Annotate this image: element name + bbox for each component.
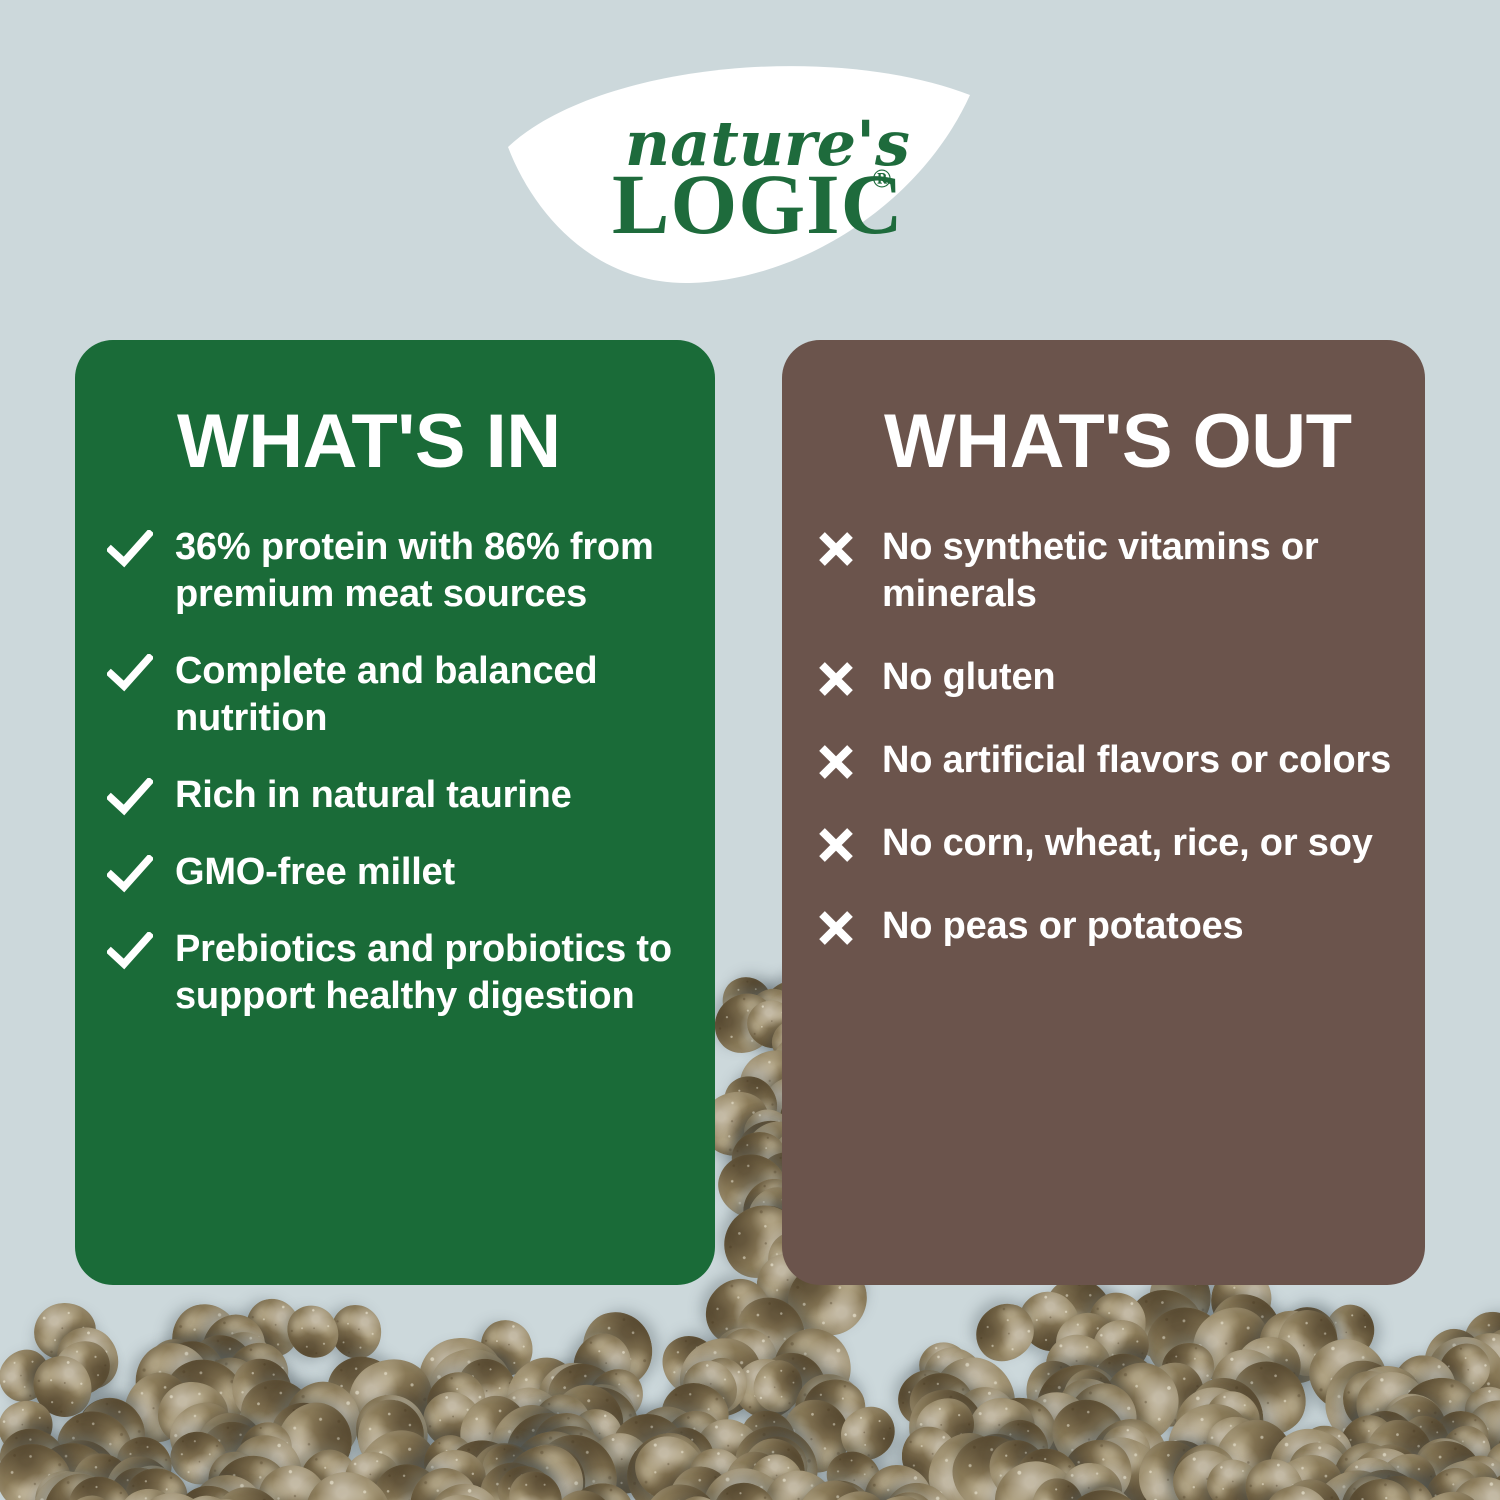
list-item-label: No artificial flavors or colors (882, 737, 1391, 784)
kibble-piece (157, 1390, 249, 1481)
kibble-piece (52, 1484, 128, 1500)
kibble-piece (1337, 1456, 1440, 1500)
kibble-piece (415, 1334, 506, 1419)
list-item-label: No corn, wheat, rice, or soy (882, 820, 1373, 867)
x-icon (814, 524, 860, 568)
kibble-piece (786, 1471, 881, 1500)
kibble-piece (830, 1396, 905, 1471)
kibble-piece (1298, 1425, 1353, 1484)
kibble-piece (651, 1324, 732, 1406)
list-item: No synthetic vitamins or minerals (882, 524, 1399, 618)
kibble-piece (71, 1391, 144, 1461)
kibble-piece (566, 1403, 629, 1470)
kibble-piece (1344, 1397, 1431, 1484)
kibble-piece (853, 1483, 946, 1500)
list-item-label: No synthetic vitamins or minerals (882, 524, 1399, 618)
kibble-piece (29, 1464, 101, 1500)
list-item: GMO-free millet (175, 849, 689, 896)
kibble-piece (459, 1432, 553, 1500)
kibble-piece (229, 1412, 302, 1485)
kibble-piece (450, 1386, 539, 1478)
kibble-piece (733, 1356, 801, 1420)
kibble-piece (1359, 1469, 1440, 1500)
kibble-piece (781, 1399, 849, 1472)
kibble-piece (1127, 1350, 1217, 1440)
kibble-piece (1431, 1409, 1490, 1464)
kibble-piece (654, 1374, 736, 1453)
kibble-piece (499, 1463, 570, 1500)
list-item-label: Complete and balanced nutrition (175, 648, 689, 742)
kibble-piece (720, 1448, 789, 1500)
registered-trademark-icon: ® (872, 164, 891, 193)
x-icon (814, 820, 860, 864)
list-item: Rich in natural taurine (175, 772, 689, 819)
kibble-piece (104, 1455, 174, 1500)
list-item: No corn, wheat, rice, or soy (882, 820, 1399, 867)
kibble-piece (45, 1398, 144, 1494)
kibble-piece (188, 1408, 280, 1500)
kibble-piece (714, 1066, 788, 1141)
kibble-piece (1051, 1428, 1143, 1500)
kibble-piece (1044, 1302, 1125, 1382)
kibble-piece (1134, 1490, 1225, 1500)
kibble-piece (178, 1344, 276, 1441)
kibble-piece (415, 1427, 482, 1496)
kibble-piece (1202, 1288, 1288, 1379)
kibble-piece (467, 1448, 564, 1500)
kibble-piece (1201, 1453, 1268, 1500)
kibble-piece (66, 1448, 138, 1500)
kibble-piece (1153, 1388, 1268, 1500)
kibble-piece (60, 1468, 138, 1500)
kibble-piece (474, 1313, 540, 1382)
kibble-piece (0, 1432, 82, 1500)
kibble-piece (1248, 1299, 1340, 1394)
whats-out-title: WHAT'S OUT (884, 402, 1399, 482)
kibble-piece (23, 1460, 123, 1500)
kibble-piece (1414, 1457, 1493, 1500)
kibble-piece (1075, 1483, 1137, 1500)
check-icon (107, 849, 153, 893)
kibble-piece (227, 1365, 330, 1467)
kibble-piece (713, 968, 780, 1037)
list-item: No peas or potatoes (882, 903, 1399, 950)
kibble-piece (1090, 1350, 1192, 1455)
kibble-piece (1252, 1474, 1344, 1500)
kibble-piece (290, 1440, 367, 1500)
kibble-piece (357, 1398, 426, 1473)
kibble-piece (1465, 1454, 1500, 1500)
kibble-piece (242, 1294, 304, 1360)
kibble-piece (32, 1301, 98, 1362)
kibble-piece (878, 1480, 955, 1500)
kibble-piece (416, 1470, 518, 1500)
kibble-piece (1333, 1450, 1411, 1500)
kibble-piece (416, 1361, 498, 1443)
kibble-piece (1392, 1369, 1487, 1459)
kibble-piece (1297, 1454, 1410, 1500)
kibble-piece (1049, 1371, 1129, 1455)
kibble-piece (1058, 1461, 1124, 1500)
kibble-piece (431, 1425, 538, 1500)
kibble-piece (1276, 1430, 1363, 1500)
kibble-piece (610, 1417, 721, 1500)
kibble-piece (274, 1372, 369, 1472)
kibble-piece (111, 1480, 186, 1500)
kibble-piece (690, 1352, 753, 1418)
kibble-piece (343, 1382, 442, 1483)
kibble-piece (244, 1451, 345, 1500)
kibble-piece (153, 1347, 256, 1447)
kibble-piece (803, 1480, 873, 1500)
kibble-piece (491, 1459, 560, 1500)
kibble-piece (182, 1467, 275, 1500)
kibble-piece (223, 1350, 301, 1431)
kibble-piece (599, 1400, 702, 1500)
kibble-piece (210, 1323, 282, 1397)
kibble-piece (107, 1465, 169, 1500)
kibble-piece (523, 1419, 612, 1500)
kibble-piece (171, 1483, 284, 1500)
kibble-piece (523, 1403, 605, 1483)
kibble-piece (693, 1266, 784, 1357)
kibble-piece (1260, 1442, 1357, 1500)
kibble-piece (1446, 1320, 1500, 1414)
kibble-piece (447, 1347, 527, 1426)
kibble-piece (535, 1350, 633, 1446)
kibble-piece (157, 1381, 230, 1449)
kibble-piece (167, 1299, 244, 1381)
kibble-piece (1083, 1342, 1169, 1425)
kibble-piece (1054, 1371, 1149, 1469)
kibble-piece (645, 1416, 726, 1498)
kibble-piece (1181, 1374, 1267, 1465)
kibble-piece (1156, 1337, 1220, 1398)
kibble-piece (1389, 1353, 1458, 1427)
kibble-piece (1336, 1364, 1406, 1437)
kibble-piece (965, 1292, 1046, 1373)
kibble-piece (1437, 1464, 1500, 1500)
kibble-piece (984, 1450, 1092, 1500)
kibble-piece (640, 1483, 723, 1500)
kibble-piece (535, 1360, 615, 1434)
kibble-piece (718, 1409, 833, 1500)
kibble-piece (1203, 1340, 1292, 1426)
kibble-piece (1198, 1407, 1269, 1476)
kibble-piece (579, 1421, 665, 1500)
kibble-piece (24, 1347, 101, 1426)
kibble-piece (562, 1477, 641, 1500)
kibble-piece (1446, 1450, 1500, 1500)
kibble-piece (45, 1315, 130, 1401)
kibble-piece (258, 1389, 354, 1484)
kibble-piece (1031, 1496, 1114, 1500)
kibble-piece (124, 1469, 187, 1500)
kibble-piece (113, 1362, 202, 1453)
kibble-piece (1178, 1292, 1285, 1398)
kibble-piece (420, 1491, 503, 1500)
kibble-piece (335, 1346, 445, 1453)
kibble-piece (918, 1342, 988, 1408)
kibble-piece (0, 1340, 60, 1412)
kibble-piece (902, 1426, 957, 1485)
kibble-piece (728, 1127, 790, 1186)
kibble-piece (569, 1382, 638, 1456)
kibble-piece (1297, 1327, 1397, 1424)
kibble-piece (1318, 1299, 1379, 1363)
kibble-piece (1090, 1317, 1153, 1377)
kibble-piece (910, 1334, 979, 1401)
kibble-piece (667, 1489, 731, 1500)
kibble-piece (106, 1426, 182, 1500)
x-icon (814, 654, 860, 698)
kibble-piece (1405, 1434, 1490, 1500)
kibble-piece (715, 1327, 778, 1395)
kibble-piece (618, 1398, 714, 1498)
kibble-piece (1071, 1428, 1172, 1500)
kibble-piece (865, 1481, 949, 1500)
kibble-piece (1270, 1296, 1347, 1372)
list-item-label: No peas or potatoes (882, 903, 1244, 950)
kibble-piece (625, 1426, 712, 1500)
kibble-piece (504, 1437, 592, 1500)
kibble-piece (707, 1474, 784, 1500)
kibble-piece (1455, 1376, 1500, 1449)
kibble-piece (176, 1485, 242, 1500)
kibble-piece (1460, 1308, 1500, 1380)
kibble-piece (1201, 1407, 1307, 1500)
kibble-piece (574, 1305, 659, 1395)
kibble-piece (66, 1385, 158, 1478)
kibble-piece (419, 1338, 522, 1437)
whats-out-list: No synthetic vitamins or minerals No glu… (882, 524, 1399, 950)
kibble-piece (205, 1447, 296, 1500)
kibble-piece (1267, 1425, 1355, 1500)
kibble-piece (985, 1409, 1059, 1484)
kibble-piece (725, 1285, 817, 1379)
kibble-piece (1060, 1368, 1117, 1429)
kibble-piece (366, 1455, 452, 1500)
kibble-piece (1262, 1468, 1354, 1500)
kibble-piece (1343, 1359, 1443, 1457)
list-item: Prebiotics and probiotics to support hea… (175, 926, 689, 1020)
kibble-piece (1369, 1386, 1457, 1477)
kibble-piece (749, 1341, 838, 1433)
kibble-piece (1491, 1423, 1500, 1500)
kibble-piece (665, 1323, 776, 1431)
kibble-piece (321, 1349, 404, 1428)
kibble-piece (730, 1399, 806, 1475)
kibble-piece (128, 1335, 219, 1431)
kibble-piece (679, 1438, 757, 1500)
kibble-piece (756, 1461, 843, 1500)
kibble-piece (651, 1399, 737, 1485)
kibble-piece (1496, 1437, 1500, 1500)
kibble-piece (487, 1429, 599, 1500)
list-item-label: GMO-free millet (175, 849, 455, 896)
kibble-piece (797, 1375, 870, 1444)
kibble-piece (541, 1378, 631, 1473)
kibble-piece (1276, 1308, 1341, 1378)
kibble-piece (494, 1345, 593, 1447)
kibble-piece (819, 1442, 888, 1500)
kibble-piece (1402, 1426, 1489, 1500)
kibble-piece (1281, 1453, 1340, 1500)
kibble-piece (918, 1423, 1017, 1500)
kibble-piece (1397, 1413, 1452, 1472)
kibble-piece (700, 1315, 787, 1402)
kibble-piece (174, 1490, 243, 1500)
kibble-piece (341, 1415, 454, 1500)
kibble-piece (810, 1478, 903, 1500)
kibble-piece (141, 1337, 208, 1408)
kibble-piece (1474, 1320, 1500, 1401)
kibble-piece (939, 1422, 1047, 1500)
kibble-piece (1456, 1391, 1500, 1486)
kibble-piece (177, 1322, 268, 1414)
kibble-piece (34, 1426, 132, 1500)
kibble-piece (968, 1396, 1037, 1460)
x-icon (814, 737, 860, 781)
whats-out-panel: WHAT'S OUT No synthetic vitamins or mine… (782, 340, 1425, 1285)
list-item: 36% protein with 86% from premium meat s… (175, 524, 689, 618)
kibble-piece (741, 1425, 818, 1500)
kibble-piece (1163, 1440, 1253, 1500)
kibble-piece (863, 1464, 934, 1500)
kibble-piece (1218, 1347, 1321, 1450)
kibble-piece (978, 1429, 1058, 1500)
kibble-piece (505, 1411, 591, 1491)
kibble-piece (1475, 1430, 1500, 1500)
kibble-piece (1137, 1439, 1206, 1500)
kibble-piece (672, 1350, 748, 1426)
kibble-piece (191, 1303, 277, 1391)
kibble-piece (224, 1428, 310, 1500)
kibble-piece (578, 1358, 653, 1432)
list-item-label: 36% protein with 86% from premium meat s… (175, 524, 689, 618)
kibble-piece (942, 1375, 1031, 1465)
kibble-piece (1162, 1434, 1248, 1500)
kibble-piece (472, 1435, 543, 1500)
kibble-piece (1041, 1330, 1116, 1401)
kibble-piece (345, 1452, 401, 1500)
kibble-piece (1335, 1433, 1439, 1500)
list-item-label: Rich in natural taurine (175, 772, 572, 819)
kibble-piece (738, 1435, 808, 1500)
whats-in-title: WHAT'S IN (177, 402, 689, 482)
kibble-piece (419, 1446, 490, 1500)
kibble-piece (413, 1380, 494, 1460)
kibble-piece (1007, 1439, 1089, 1500)
kibble-piece (1026, 1354, 1131, 1454)
infographic-canvas: nature's LOGIC ® WHAT'S IN 36% protein w… (0, 0, 1500, 1500)
x-icon (814, 903, 860, 947)
kibble-piece (918, 1341, 1031, 1453)
kibble-piece (153, 1331, 235, 1411)
kibble-piece (1330, 1439, 1404, 1500)
kibble-piece (1414, 1323, 1500, 1426)
kibble-piece (546, 1486, 619, 1500)
kibble-piece (1363, 1419, 1435, 1497)
check-icon (107, 524, 153, 568)
kibble-piece (1377, 1388, 1449, 1456)
kibble-piece (1032, 1478, 1084, 1500)
kibble-piece (1335, 1470, 1406, 1500)
kibble-piece (0, 1418, 76, 1500)
kibble-piece (521, 1385, 601, 1468)
kibble-piece (1088, 1293, 1146, 1356)
kibble-piece (206, 1485, 289, 1500)
kibble-piece (1229, 1330, 1308, 1405)
kibble-piece (552, 1372, 652, 1471)
kibble-piece (1058, 1483, 1150, 1500)
kibble-piece (521, 1420, 632, 1500)
kibble-piece (1092, 1416, 1161, 1486)
kibble-piece (491, 1381, 569, 1455)
kibble-piece (886, 1359, 964, 1437)
kibble-piece (793, 1372, 866, 1451)
kibble-piece (1336, 1468, 1422, 1500)
kibble-piece (1351, 1438, 1428, 1500)
kibble-piece (203, 1447, 268, 1500)
kibble-piece (743, 1445, 812, 1500)
whats-in-list: 36% protein with 86% from premium meat s… (175, 524, 689, 1020)
kibble-piece (564, 1324, 640, 1402)
kibble-piece (1364, 1442, 1448, 1500)
kibble-piece (1420, 1449, 1500, 1500)
kibble-piece (1324, 1359, 1403, 1445)
logo-wordmark: LOGIC (612, 156, 904, 252)
kibble-piece (691, 1456, 799, 1500)
whats-in-panel: WHAT'S IN 36% protein with 86% from prem… (75, 340, 715, 1285)
kibble-piece (1235, 1448, 1315, 1500)
kibble-piece (162, 1424, 233, 1492)
kibble-piece (747, 1353, 809, 1418)
kibble-piece (1020, 1355, 1090, 1428)
kibble-piece (188, 1407, 272, 1496)
kibble-piece (1197, 1382, 1269, 1452)
kibble-piece (982, 1394, 1059, 1466)
kibble-piece (1341, 1357, 1430, 1442)
kibble-piece (1433, 1418, 1499, 1486)
kibble-piece (479, 1393, 582, 1500)
kibble-piece (113, 1456, 186, 1500)
kibble-piece (277, 1296, 348, 1368)
kibble-piece (667, 1463, 736, 1500)
kibble-piece (1040, 1387, 1138, 1483)
kibble-piece (44, 1330, 120, 1405)
kibble-piece (1329, 1404, 1407, 1482)
kibble-piece (1401, 1478, 1497, 1500)
check-icon (107, 772, 153, 816)
kibble-piece (1167, 1377, 1266, 1472)
kibble-piece (1012, 1381, 1104, 1470)
kibble-piece (0, 1392, 61, 1461)
kibble-piece (1008, 1280, 1092, 1364)
kibble-piece (905, 1387, 985, 1465)
list-item: No artificial flavors or colors (882, 737, 1399, 784)
kibble-piece (1486, 1400, 1500, 1500)
list-item: No gluten (882, 654, 1399, 701)
kibble-piece (327, 1302, 384, 1363)
check-icon (107, 926, 153, 970)
kibble-piece (1429, 1333, 1500, 1405)
kibble-piece (1145, 1431, 1221, 1500)
brand-logo: nature's LOGIC ® (500, 55, 1000, 285)
kibble-piece (703, 982, 787, 1065)
list-item: Complete and balanced nutrition (175, 648, 689, 742)
kibble-piece (403, 1462, 486, 1500)
